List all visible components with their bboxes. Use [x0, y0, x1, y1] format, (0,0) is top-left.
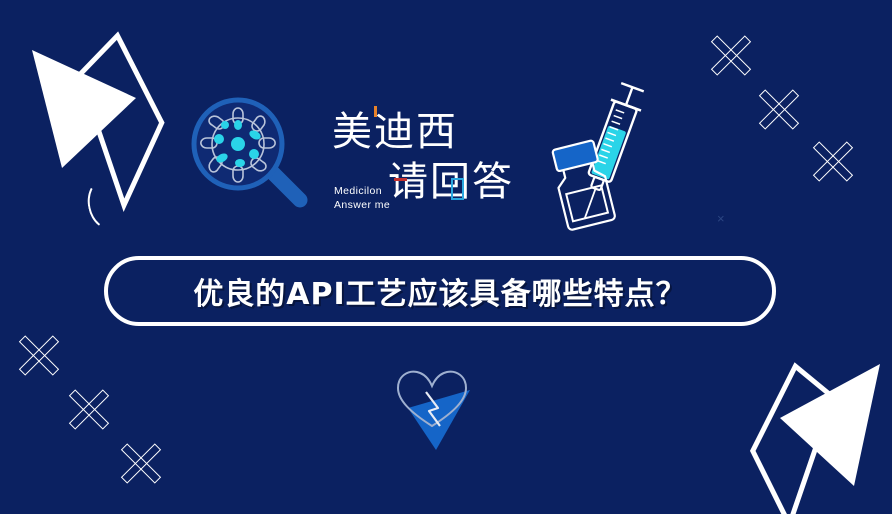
vial-label	[566, 185, 608, 221]
x-marks-bottom-left	[6, 324, 198, 504]
triangle-solid-right	[780, 364, 880, 486]
x-mark	[66, 386, 112, 432]
x-mark	[118, 440, 164, 486]
heart-icon	[384, 362, 494, 452]
logo-chinese: 美迪西 请回答	[330, 104, 520, 234]
x-mark	[16, 332, 62, 378]
logo-english: Medicilon Answer me	[334, 184, 390, 212]
magnifier-virus-icon	[180, 92, 320, 212]
medicilon-answer-me-logo: 美迪西 请回答 Medicilon Answer me	[330, 104, 520, 234]
logo-blue-box	[451, 178, 464, 200]
x-mark	[810, 138, 856, 184]
faint-x-icon: ×	[717, 212, 730, 225]
banner-canvas: 美迪西 请回答 Medicilon Answer me	[0, 0, 892, 514]
triangle-pair-right	[744, 352, 892, 514]
triangle-pair-left	[14, 28, 174, 198]
heart-blue-triangle	[408, 390, 470, 450]
logo-chinese-line1: 美迪西	[332, 110, 458, 154]
logo-red-dash	[394, 178, 407, 181]
logo-english-line1: Medicilon	[334, 184, 390, 198]
logo-english-line2: Answer me	[334, 198, 390, 212]
x-mark	[756, 86, 802, 132]
magnifier-handle	[272, 172, 300, 200]
logo-orange-tick	[374, 106, 377, 117]
page-title: 优良的API工艺应该具备哪些特点？	[193, 269, 686, 313]
syringe-vial-group	[552, 78, 682, 228]
title-pill: 优良的API工艺应该具备哪些特点？	[104, 256, 776, 326]
x-mark	[708, 32, 754, 78]
x-marks-top-right	[700, 20, 892, 200]
